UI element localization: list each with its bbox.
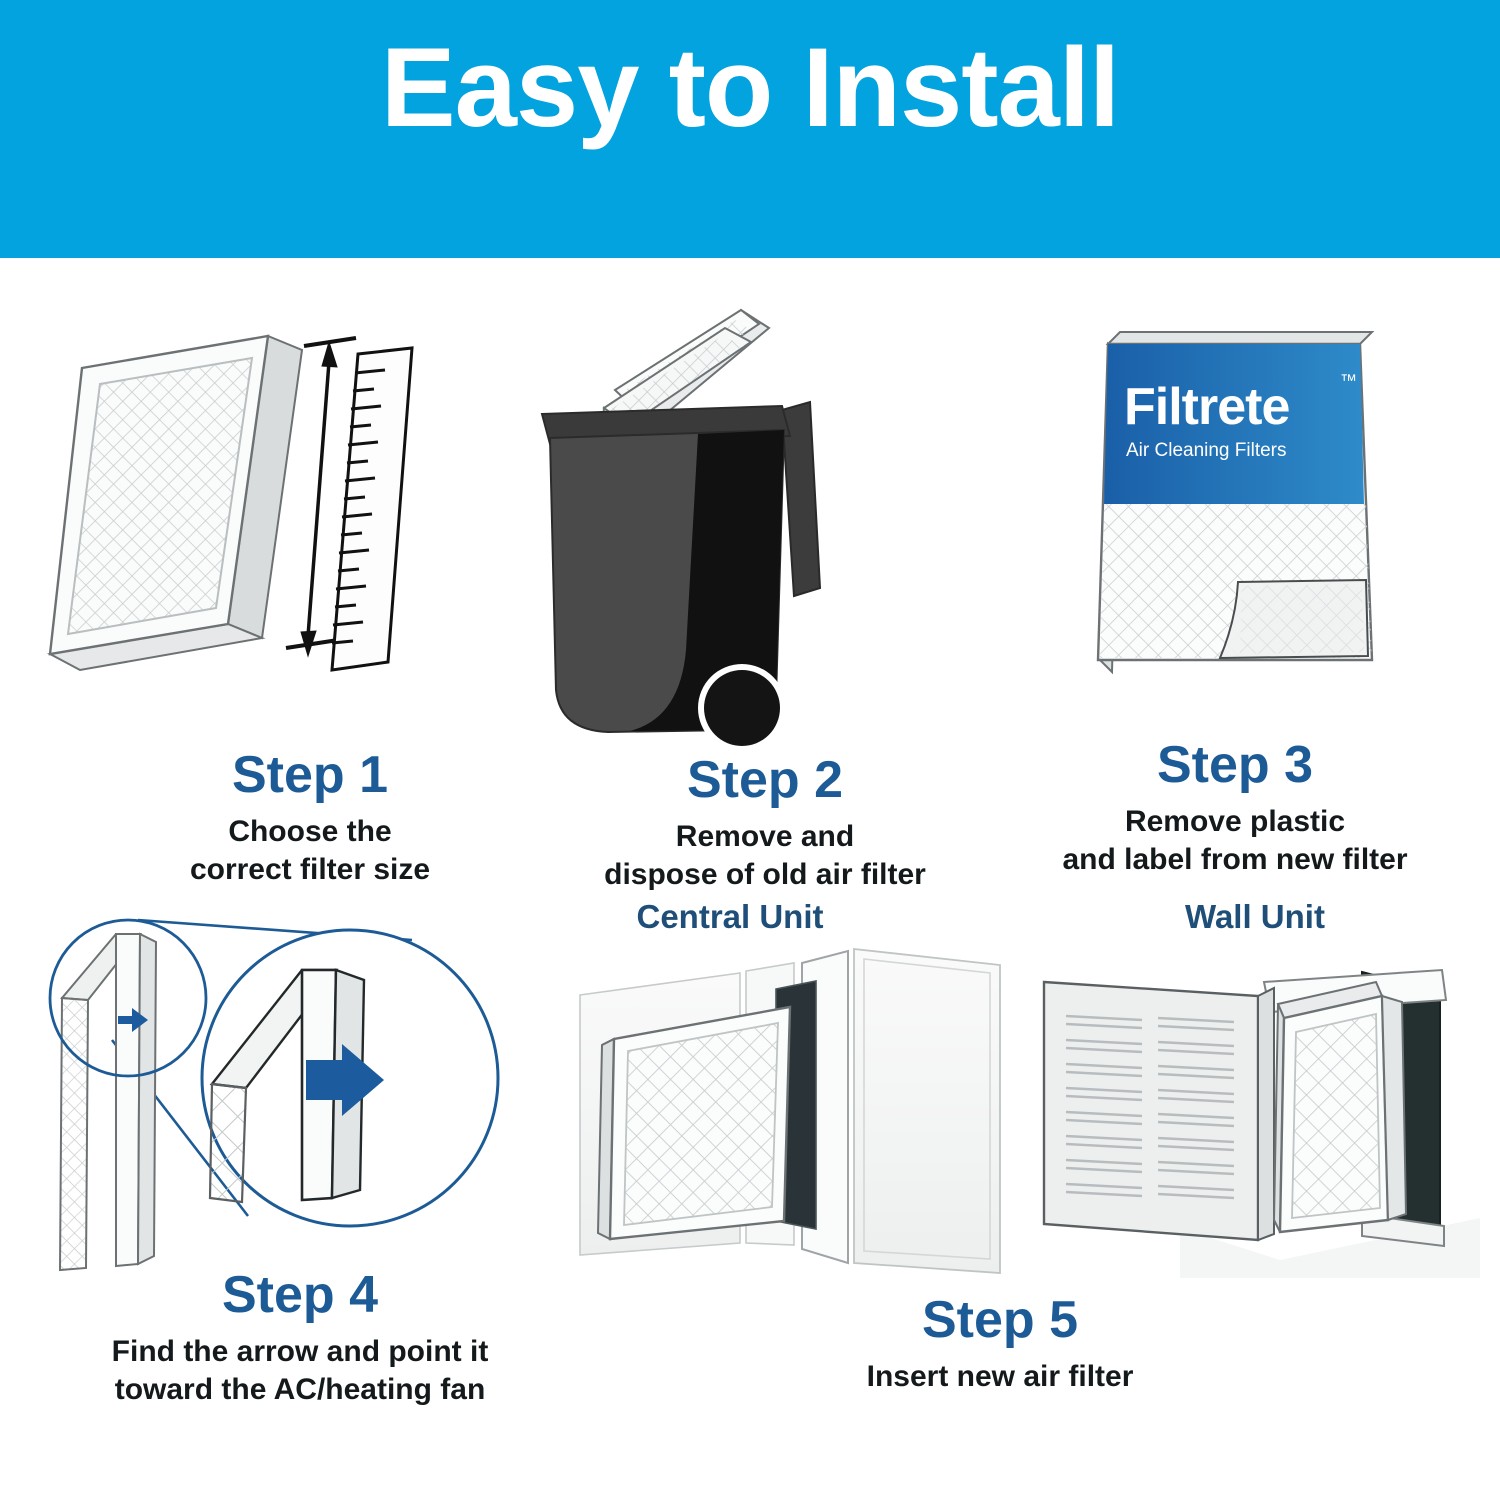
- trademark-symbol: ™: [1340, 371, 1357, 390]
- step-4-title: Step 4: [20, 1268, 580, 1323]
- callout-magnified: [202, 930, 498, 1226]
- filtrete-package-illustration: Filtrete ™ Air Cleaning Filters: [990, 308, 1480, 728]
- step-3-caption: Step 3 Remove plastic and label from new…: [990, 738, 1480, 879]
- step-5-title: Step 5: [540, 1293, 1460, 1348]
- wall-unit-label: Wall Unit: [1030, 898, 1480, 936]
- ruler: [332, 348, 412, 670]
- brand-tagline: Air Cleaning Filters: [1126, 440, 1287, 461]
- new-filter-wall: [1274, 982, 1406, 1232]
- step-1-title: Step 1: [40, 748, 580, 803]
- step-1-cell: Step 1 Choose the correct filter size: [40, 318, 580, 918]
- steps-board: Step 1 Choose the correct filter size: [0, 258, 1500, 1500]
- step-2-caption: Step 2 Remove and dispose of old air fil…: [520, 753, 1010, 894]
- filter-with-ruler-illustration: [40, 318, 580, 738]
- air-filter-panel: [50, 336, 302, 670]
- brand-name: Filtrete: [1124, 378, 1289, 436]
- bin-wheel: [704, 670, 780, 746]
- step-3-cell: Filtrete ™ Air Cleaning Filters Step 3 R…: [990, 308, 1480, 918]
- step-5-desc-line-1: Insert new air filter: [540, 1358, 1460, 1396]
- step-3-desc-line-2: and label from new filter: [990, 841, 1480, 879]
- step-1-caption: Step 1 Choose the correct filter size: [40, 748, 580, 889]
- wall-unit-illustration: [1030, 938, 1480, 1278]
- step-4-desc-line-2: toward the AC/heating fan: [20, 1371, 580, 1409]
- step-1-desc-line-1: Choose the: [40, 813, 580, 851]
- step-5-cell: Central Unit: [560, 898, 1480, 1478]
- step-2-cell: Step 2 Remove and dispose of old air fil…: [520, 298, 1010, 918]
- step-2-desc-line-1: Remove and: [520, 818, 1010, 856]
- trash-bin-illustration: [520, 298, 1010, 748]
- step-2-title: Step 2: [520, 753, 1010, 808]
- step-5-caption: Step 5 Insert new air filter: [540, 1293, 1460, 1396]
- wall-face-right: [854, 949, 1000, 1273]
- page-title: Easy to Install: [381, 32, 1119, 144]
- step-1-desc-line-2: correct filter size: [40, 851, 580, 889]
- central-unit-label: Central Unit: [450, 898, 1010, 936]
- step-3-desc-line-1: Remove plastic: [990, 803, 1480, 841]
- step-4-desc-line-1: Find the arrow and point it: [20, 1333, 580, 1371]
- louver-grille-door[interactable]: [1044, 982, 1274, 1240]
- step-4-cell: Step 4 Find the arrow and point it towar…: [20, 898, 580, 1478]
- filter-arrow-magnifier-illustration: [20, 898, 580, 1318]
- page-header: Easy to Install: [0, 0, 1500, 258]
- step-3-title: Step 3: [990, 738, 1480, 793]
- new-filter-central: [598, 1007, 790, 1239]
- step-2-desc-line-2: dispose of old air filter: [520, 856, 1010, 894]
- filter-edge-small: [60, 934, 156, 1270]
- step-4-caption: Step 4 Find the arrow and point it towar…: [20, 1268, 580, 1409]
- central-unit-illustration: [580, 943, 1000, 1273]
